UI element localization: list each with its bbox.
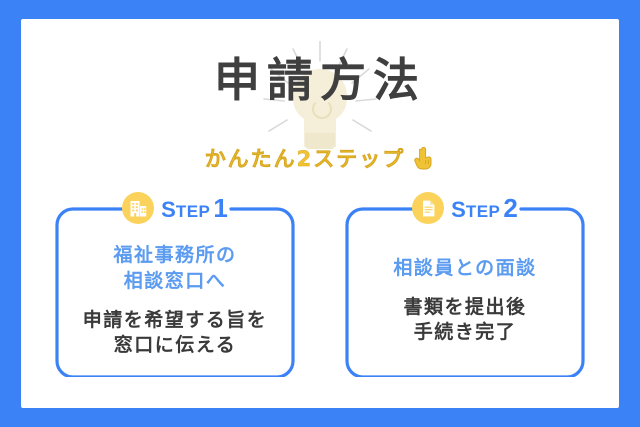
step-card-1[interactable]: S TEP 1 福祉事務所の 相談窓口へ 申請を希望する旨を 窓口に伝える [55, 195, 295, 377]
page-subtitle: かんたん2ステップ [205, 149, 406, 170]
step-1-heading: 福祉事務所の 相談窓口へ [113, 243, 236, 294]
step-card-2-header: S TEP 2 [345, 191, 585, 225]
steps-row: S TEP 1 福祉事務所の 相談窓口へ 申請を希望する旨を 窓口に伝える [21, 195, 619, 395]
step-2-label-rest: TEP [466, 203, 501, 220]
step-1-number: 1 [213, 195, 227, 221]
page-title: 申請方法 [21, 57, 619, 103]
step-2-heading: 相談員との面談 [393, 256, 536, 282]
pointing-up-hand-icon [413, 147, 435, 171]
step-1-text: 申請を希望する旨を 窓口に伝える [83, 308, 268, 359]
step-2-text: 書類を提出後 手続き完了 [403, 295, 526, 346]
document-icon [412, 192, 444, 224]
step-card-2-body: 相談員との面談 書類を提出後 手続き完了 [353, 233, 577, 369]
infographic-canvas: 申請方法 かんたん2ステップ [21, 19, 619, 408]
step-2-label-first: S [451, 199, 466, 221]
document-icon-glyph [419, 199, 438, 218]
step-1-label-first: S [161, 199, 176, 221]
subtitle-row: かんたん2ステップ [21, 147, 619, 171]
hero-section: 申請方法 かんたん2ステップ [21, 19, 619, 189]
step-2-number: 2 [503, 195, 517, 221]
step-card-1-header: S TEP 1 [55, 191, 295, 225]
infographic-frame: 申請方法 かんたん2ステップ [0, 0, 640, 427]
step-1-label-rest: TEP [176, 203, 211, 220]
step-1-label: S TEP 1 [161, 195, 228, 221]
step-card-2[interactable]: S TEP 2 相談員との面談 書類を提出後 手続き完了 [345, 195, 585, 377]
step-card-1-body: 福祉事務所の 相談窓口へ 申請を希望する旨を 窓口に伝える [63, 233, 287, 369]
step-2-label: S TEP 2 [451, 195, 518, 221]
building-icon-glyph [129, 199, 148, 218]
building-icon [122, 192, 154, 224]
